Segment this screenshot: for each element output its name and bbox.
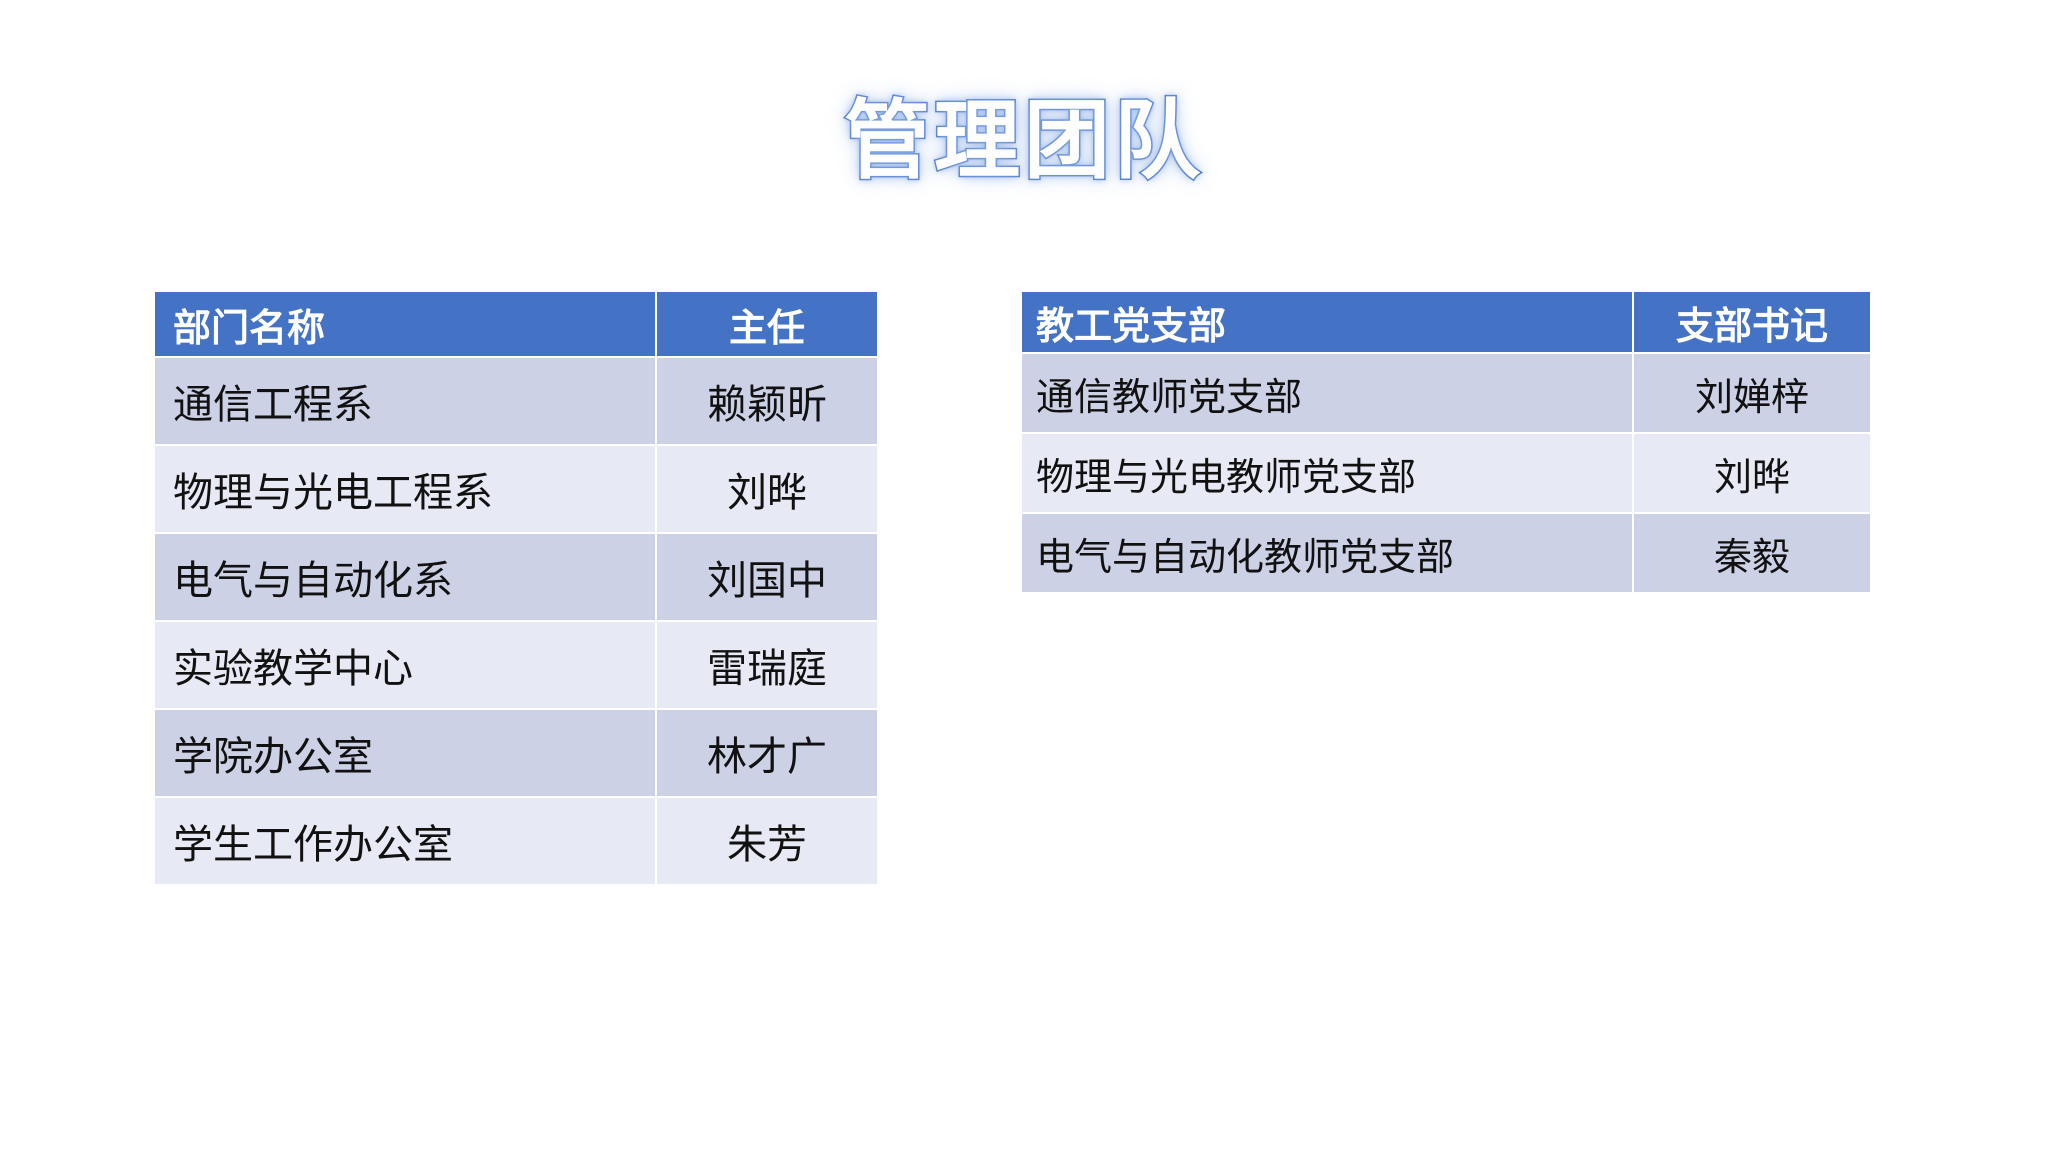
- cell-department-name: 实验教学中心: [155, 622, 655, 708]
- table-row: 电气与自动化教师党支部 秦毅: [1022, 514, 1870, 592]
- table-row: 物理与光电工程系 刘晔: [155, 446, 877, 532]
- table-header-row: 教工党支部 支部书记: [1022, 292, 1870, 352]
- party-branches-table: 教工党支部 支部书记 通信教师党支部 刘婵梓 物理与光电教师党支部 刘晔 电气与…: [1020, 290, 1872, 594]
- departments-table-body: 通信工程系 赖颖昕 物理与光电工程系 刘晔 电气与自动化系 刘国中 实验教学中心…: [155, 358, 877, 884]
- departments-table-header: 部门名称 主任: [155, 292, 877, 356]
- cell-department-director: 朱芳: [657, 798, 877, 884]
- party-branches-table-header: 教工党支部 支部书记: [1022, 292, 1870, 352]
- table-row: 学院办公室 林才广: [155, 710, 877, 796]
- cell-department-director: 刘晔: [657, 446, 877, 532]
- page-title: 管理团队: [844, 96, 1204, 186]
- cell-department-name: 学院办公室: [155, 710, 655, 796]
- cell-department-director: 赖颖昕: [657, 358, 877, 444]
- table-row: 学生工作办公室 朱芳: [155, 798, 877, 884]
- cell-department-name: 通信工程系: [155, 358, 655, 444]
- cell-branch-secretary: 秦毅: [1634, 514, 1870, 592]
- column-header-department-name: 部门名称: [155, 292, 655, 356]
- table-row: 通信工程系 赖颖昕: [155, 358, 877, 444]
- page-title-container: 管理团队: [0, 96, 2048, 186]
- cell-party-branch: 电气与自动化教师党支部: [1022, 514, 1632, 592]
- column-header-department-director: 主任: [657, 292, 877, 356]
- slide-canvas: 管理团队 部门名称 主任 通信工程系 赖颖昕 物理与光电工程系 刘晔 电气与自动…: [0, 0, 2048, 1152]
- column-header-party-branch: 教工党支部: [1022, 292, 1632, 352]
- cell-department-name: 电气与自动化系: [155, 534, 655, 620]
- cell-department-name: 学生工作办公室: [155, 798, 655, 884]
- table-row: 实验教学中心 雷瑞庭: [155, 622, 877, 708]
- cell-branch-secretary: 刘婵梓: [1634, 354, 1870, 432]
- party-branches-table-body: 通信教师党支部 刘婵梓 物理与光电教师党支部 刘晔 电气与自动化教师党支部 秦毅: [1022, 354, 1870, 592]
- cell-department-director: 林才广: [657, 710, 877, 796]
- table-row: 物理与光电教师党支部 刘晔: [1022, 434, 1870, 512]
- table-row: 电气与自动化系 刘国中: [155, 534, 877, 620]
- cell-party-branch: 物理与光电教师党支部: [1022, 434, 1632, 512]
- cell-department-director: 刘国中: [657, 534, 877, 620]
- table-header-row: 部门名称 主任: [155, 292, 877, 356]
- cell-department-name: 物理与光电工程系: [155, 446, 655, 532]
- departments-table: 部门名称 主任 通信工程系 赖颖昕 物理与光电工程系 刘晔 电气与自动化系 刘国…: [153, 290, 879, 886]
- cell-branch-secretary: 刘晔: [1634, 434, 1870, 512]
- column-header-branch-secretary: 支部书记: [1634, 292, 1870, 352]
- table-row: 通信教师党支部 刘婵梓: [1022, 354, 1870, 432]
- cell-party-branch: 通信教师党支部: [1022, 354, 1632, 432]
- cell-department-director: 雷瑞庭: [657, 622, 877, 708]
